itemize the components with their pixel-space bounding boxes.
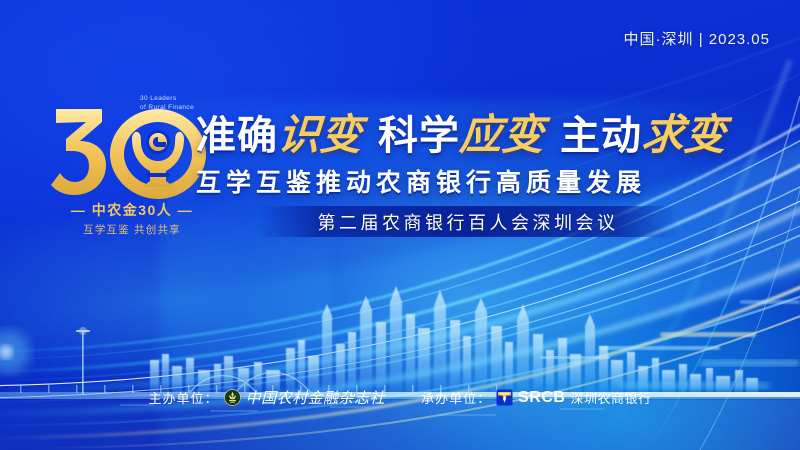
headline-word-2: 识变 xyxy=(276,101,364,162)
logo-slogan: 互学互鉴 共创共享 xyxy=(44,222,220,237)
headline-subtitle: 互学互鉴推动农商银行高质量发展 xyxy=(196,163,646,199)
event-date-location: 中国·深圳 | 2023.05 xyxy=(624,28,770,49)
host-label: 主办单位： xyxy=(149,388,219,407)
bridge-silhouette xyxy=(0,327,800,450)
headline-word-5: 主动 xyxy=(560,103,642,161)
logo-english-line1: 30 Leaders xyxy=(140,94,194,103)
headline-word-3: 科学 xyxy=(378,103,460,161)
event-logo: 30 Leaders of Rural Finance xyxy=(44,88,220,238)
host-organization: 主办单位： 中国农村金融杂志社 xyxy=(149,387,386,408)
organizer-name: 深圳农商银行 xyxy=(570,388,651,407)
event-name-band: 第二届农商银行百人会深圳会议 xyxy=(258,206,678,237)
china-rural-finance-emblem-icon xyxy=(224,389,241,406)
headline-word-4: 应变 xyxy=(458,101,546,162)
organizer-organization: 承办单位： SRCB 深圳农商银行 xyxy=(421,388,651,407)
shenzhen-skyline-silhouette xyxy=(0,270,800,450)
headline-word-1: 准确 xyxy=(196,103,278,161)
organizer-label: 承办单位： xyxy=(421,388,491,407)
host-name: 中国农村金融杂志社 xyxy=(246,387,386,408)
main-headline: 准确 识变 科学 应变 主动 求变 xyxy=(196,101,726,162)
organizer-footer: 主办单位： 中国农村金融杂志社 承办单位： xyxy=(0,387,800,408)
headline-word-6: 求变 xyxy=(640,101,728,162)
srcb-emblem-icon xyxy=(496,389,513,406)
organizer-brand: SRCB xyxy=(518,389,565,407)
conference-poster: 中国·深圳 | 2023.05 30 Leaders of Rural Fina… xyxy=(0,0,800,450)
logo-chinese-name: — 中农金30人 — xyxy=(44,200,220,220)
rural-finance-emblem-icon xyxy=(50,103,218,199)
event-name-text: 第二届农商银行百人会深圳会议 xyxy=(318,209,619,235)
